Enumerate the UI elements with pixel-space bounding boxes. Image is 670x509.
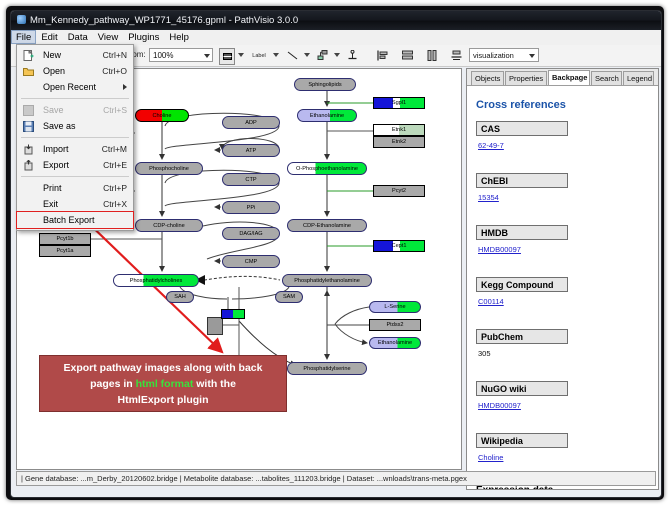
- pathway-node-label: Ethanolamine: [378, 340, 412, 346]
- chevron-down-icon: [204, 54, 210, 58]
- file-menu-accel-export: Ctrl+E: [103, 157, 127, 173]
- xref-header-cas: CAS: [476, 121, 568, 136]
- menu-help[interactable]: Help: [164, 30, 194, 44]
- file-menu-label-save-as: Save as: [43, 121, 76, 131]
- import-icon: [23, 144, 34, 155]
- pathway-node-label: Pcyt1b: [56, 236, 73, 242]
- pathway-node-sphingolipids[interactable]: Sphingolipids: [294, 78, 356, 91]
- anchor-icon: [347, 50, 358, 61]
- pathway-node-label: Cept1: [392, 243, 407, 249]
- pathway-node-label: Pcyt2: [392, 188, 406, 194]
- file-menu-label-batch-export: Batch Export: [43, 215, 95, 225]
- pathway-node-label: Etnk2: [392, 139, 406, 145]
- pathway-node-dagiag[interactable]: DAG/IAG: [222, 227, 280, 240]
- pathway-node-label: DAG/IAG: [239, 231, 262, 237]
- side-panel-tabstrip: Objects Properties Backpage Search Legen…: [467, 69, 658, 86]
- xref-value-hmdb[interactable]: HMDB00097: [478, 245, 521, 254]
- pathway-node-ctp[interactable]: CTP: [222, 173, 280, 186]
- tab-search[interactable]: Search: [591, 71, 622, 85]
- file-menu-accel-save: Ctrl+S: [103, 102, 127, 118]
- callout-line-2-pre: pages in: [90, 378, 136, 390]
- pathway-node-label: ATP: [246, 148, 256, 154]
- pathway-node-label: CDP-Ethanolamine: [303, 223, 351, 229]
- label-tool-button[interactable]: Label: [248, 48, 270, 63]
- application-root: Mm_Kennedy_pathway_WP1771_45176.gpml - P…: [0, 0, 670, 509]
- pathway-node-adp[interactable]: ADP: [222, 116, 280, 129]
- file-menu-separator-2: [21, 137, 129, 138]
- visualization-combo[interactable]: visualization: [469, 48, 539, 62]
- pathway-node-pcyt2[interactable]: Pcyt2: [373, 185, 425, 197]
- xref-header-nugo-wiki: NuGO wiki: [476, 381, 568, 396]
- pathway-node-label: CMP: [245, 259, 257, 265]
- xref-value-wikipedia[interactable]: Choline: [478, 453, 503, 462]
- align-left-tool-button[interactable]: [375, 48, 389, 63]
- file-menu-accel-import: Ctrl+M: [102, 141, 127, 157]
- interaction-tool-button[interactable]: [315, 48, 329, 63]
- pathway-node-ethanolamine-bot[interactable]: Ethanolamine: [369, 337, 421, 349]
- xref-header-wikipedia: Wikipedia: [476, 433, 568, 448]
- tab-legend[interactable]: Legend: [623, 71, 654, 85]
- save-as-icon: [23, 121, 34, 132]
- pathway-node-ppi[interactable]: PPi: [222, 201, 280, 214]
- file-menu-item-open-recent[interactable]: Open Recent: [17, 79, 133, 95]
- zoom-combo[interactable]: 100%: [149, 48, 213, 62]
- pathway-node-label: SAH: [174, 294, 186, 300]
- callout-highlight: html format: [136, 378, 194, 390]
- menu-edit[interactable]: Edit: [36, 30, 62, 44]
- xref-value-pubchem: 305: [478, 349, 491, 358]
- xref-value-kegg-compound[interactable]: C00114: [478, 297, 504, 306]
- callout-annotation: Export pathway images along with back pa…: [39, 355, 287, 412]
- file-menu-label-print: Print: [43, 183, 62, 193]
- file-menu-accel-print: Ctrl+P: [103, 180, 127, 196]
- pathway-node-pcyt1b[interactable]: Pcyt1b: [39, 233, 91, 245]
- visualization-value: visualization: [473, 51, 514, 60]
- file-menu-label-new: New: [43, 50, 61, 60]
- line-tool-button[interactable]: [285, 48, 299, 63]
- stack-icon: [451, 50, 462, 61]
- file-menu-label-save: Save: [43, 105, 64, 115]
- interaction-dropdown-arrow-icon[interactable]: [334, 53, 340, 57]
- align-rows-icon: [402, 50, 413, 61]
- pathway-node-label: Ptdss2: [386, 322, 403, 328]
- pathway-node-label: L-Serine: [384, 304, 405, 310]
- chevron-down-icon: [529, 54, 535, 58]
- menu-view[interactable]: View: [93, 30, 123, 44]
- submenu-arrow-icon: [123, 84, 127, 90]
- align-columns-tool-button[interactable]: [425, 48, 439, 63]
- interaction-icon: [317, 50, 328, 61]
- pathway-node-o-phosphoethanol[interactable]: O-Phosphoethanolamine: [287, 162, 367, 175]
- xref-header-hmdb: HMDB: [476, 225, 568, 240]
- status-bar: | Gene database: ...m_Derby_20120602.bri…: [16, 471, 656, 486]
- save-icon: [23, 105, 34, 116]
- pathway-node-l-serine[interactable]: L-Serine: [369, 301, 421, 313]
- file-menu-label-export: Export: [43, 160, 69, 170]
- pathway-node-label: Ethanolamine: [310, 113, 344, 119]
- zoom-value: 100%: [153, 51, 173, 60]
- anchor-tool-button[interactable]: [345, 48, 359, 63]
- file-menu-accel-new: Ctrl+N: [103, 47, 127, 63]
- datanode-tool-button[interactable]: [219, 48, 235, 65]
- pathway-node-ptdss2[interactable]: Ptdss2: [369, 319, 421, 331]
- menu-file[interactable]: File: [11, 30, 36, 44]
- group-box[interactable]: [207, 317, 223, 335]
- pathway-node-sam[interactable]: SAM: [275, 291, 303, 303]
- file-menu-accel-exit: Ctrl+X: [103, 196, 127, 212]
- tab-objects[interactable]: Objects: [471, 71, 504, 85]
- pathway-node-label: Sgpl1: [392, 100, 406, 106]
- menu-data[interactable]: Data: [63, 30, 93, 44]
- stack-tool-button[interactable]: [449, 48, 463, 63]
- align-rows-tool-button[interactable]: [400, 48, 414, 63]
- side-panel: Objects Properties Backpage Search Legen…: [466, 68, 659, 490]
- folder-open-icon: [23, 66, 34, 77]
- pathway-node-label: CTP: [245, 177, 256, 183]
- file-menu-item-open[interactable]: Open Ctrl+O: [17, 63, 133, 79]
- new-document-icon: [23, 50, 34, 61]
- backpage-content: Cross references CAS62-49-7ChEBI15354HMD…: [470, 87, 655, 487]
- pathway-node-ptdserine[interactable]: Phosphatidylserine: [287, 362, 367, 375]
- file-menu-separator-1: [21, 98, 129, 99]
- file-menu-item-import[interactable]: Import Ctrl+M: [17, 141, 133, 157]
- label-dropdown-arrow-icon[interactable]: [273, 53, 279, 57]
- callout-line-3: HtmlExport plugin: [40, 392, 286, 408]
- file-menu-popup[interactable]: New Ctrl+N Open Ctrl+O Open Recent Save …: [16, 44, 134, 231]
- pathway-node-etnk2[interactable]: Etnk2: [373, 136, 425, 148]
- pathway-node-label: Sphingolipids: [308, 82, 341, 88]
- file-menu-separator-3: [21, 176, 129, 177]
- file-menu-item-save-as[interactable]: Save as: [17, 118, 133, 134]
- export-icon: [23, 160, 34, 171]
- file-menu-label-open-recent: Open Recent: [43, 82, 96, 92]
- line-dropdown-arrow-icon[interactable]: [304, 53, 310, 57]
- title-bar: Mm_Kennedy_pathway_WP1771_45176.gpml - P…: [11, 11, 661, 30]
- xref-value-nugo-wiki[interactable]: HMDB00097: [478, 401, 521, 410]
- window-inner: Mm_Kennedy_pathway_WP1771_45176.gpml - P…: [10, 10, 662, 498]
- pathway-node-label: Phosphatidylethanolamine: [294, 278, 360, 284]
- pathway-node-phosphocholine[interactable]: Phosphocholine: [135, 162, 203, 175]
- callout-line-1: Export pathway images along with back: [40, 360, 286, 376]
- pathway-node-label: Etnk1: [392, 127, 406, 133]
- pathway-node-label: Phosphatidylcholines: [130, 278, 183, 284]
- file-menu-label-import: Import: [43, 144, 69, 154]
- datanode-dropdown-arrow-icon[interactable]: [238, 53, 244, 57]
- pathway-node-cdp-ethanolamine[interactable]: CDP-Ethanolamine: [287, 219, 367, 232]
- pathway-node-ptdethanolamine[interactable]: Phosphatidylethanolamine: [282, 274, 372, 287]
- window-title: Mm_Kennedy_pathway_WP1771_45176.gpml - P…: [30, 15, 298, 26]
- file-menu-accel-open: Ctrl+O: [102, 63, 127, 79]
- xref-value-cas[interactable]: 62-49-7: [478, 141, 504, 150]
- pathway-node-sgpl1[interactable]: Sgpl1: [373, 97, 425, 109]
- callout-line-2: pages in html format with the: [40, 376, 286, 392]
- pathway-node-label: O-Phosphoethanolamine: [296, 166, 358, 172]
- pathway-node-cept1[interactable]: Cept1: [373, 240, 425, 252]
- callout-line-2-post: with the: [193, 378, 236, 390]
- file-menu-label-exit: Exit: [43, 199, 58, 209]
- pathway-node-atp[interactable]: ATP: [222, 144, 280, 157]
- pathway-node-label: Phosphocholine: [149, 166, 189, 172]
- file-menu-item-new[interactable]: New Ctrl+N: [17, 47, 133, 63]
- xref-header-kegg-compound: Kegg Compound: [476, 277, 568, 292]
- pathvisio-icon: [17, 15, 26, 24]
- pathway-node-ptdcholines[interactable]: Phosphatidylcholines: [113, 274, 199, 287]
- pathway-node-label: Phosphatidylserine: [303, 366, 350, 372]
- align-left-icon: [377, 50, 388, 61]
- pathway-node-choline[interactable]: Choline: [135, 109, 189, 122]
- pathway-node-cdp-choline[interactable]: CDP-choline: [135, 219, 203, 232]
- pathway-node-label: SAM: [283, 294, 295, 300]
- xref-header-pubchem: PubChem: [476, 329, 568, 344]
- file-menu-item-print[interactable]: Print Ctrl+P: [17, 180, 133, 196]
- align-columns-icon: [427, 50, 438, 61]
- tab-properties[interactable]: Properties: [505, 71, 547, 85]
- file-menu-item-exit[interactable]: Exit Ctrl+X: [17, 196, 133, 212]
- file-menu-item-save: Save Ctrl+S: [17, 102, 133, 118]
- cross-references-title: Cross references: [476, 99, 566, 111]
- pathway-node-etnk1[interactable]: Etnk1: [373, 124, 425, 136]
- pathway-node-label: PPi: [247, 205, 256, 211]
- pathway-node-sah[interactable]: SAH: [166, 291, 194, 303]
- xref-header-chebi: ChEBI: [476, 173, 568, 188]
- file-menu-item-batch-export[interactable]: Batch Export: [17, 212, 133, 228]
- xref-value-chebi[interactable]: 15354: [478, 193, 499, 202]
- group-expression-box: [221, 309, 245, 319]
- pathway-node-label: CDP-choline: [153, 223, 184, 229]
- tab-backpage[interactable]: Backpage: [548, 70, 590, 85]
- label-tool-text: Label: [252, 53, 265, 59]
- file-menu-label-open: Open: [43, 66, 65, 76]
- datanode-icon: [223, 52, 232, 61]
- pathway-node-cmp[interactable]: CMP: [222, 255, 280, 268]
- pathway-node-label: ADP: [245, 120, 257, 126]
- pathway-node-pcyt1a[interactable]: Pcyt1a: [39, 245, 91, 257]
- pathway-node-label: Choline: [153, 113, 172, 119]
- line-icon: [287, 50, 298, 61]
- pathway-node-label: Pcyt1a: [56, 248, 73, 254]
- pathway-node-ethanolamine-top[interactable]: Ethanolamine: [297, 109, 357, 122]
- menu-plugins[interactable]: Plugins: [123, 30, 164, 44]
- file-menu-item-export[interactable]: Export Ctrl+E: [17, 157, 133, 173]
